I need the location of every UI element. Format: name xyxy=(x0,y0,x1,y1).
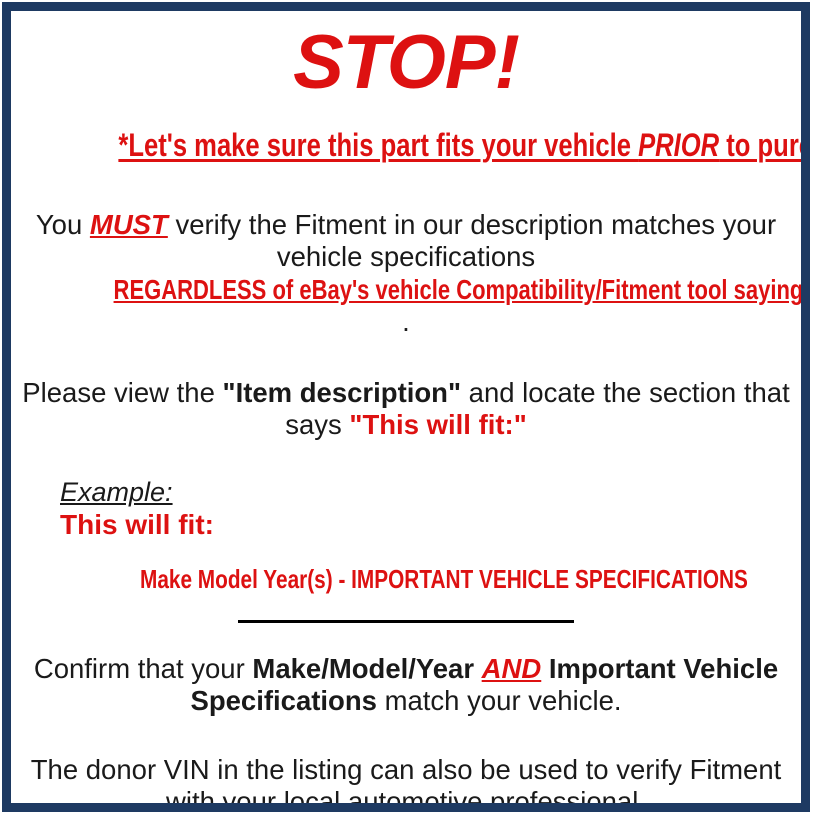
emphasis-regardless: REGARDLESS of eBay's vehicle Compatibili… xyxy=(114,274,810,306)
paragraph-confirm: Confirm that your Make/Model/Year AND Im… xyxy=(20,623,792,718)
emphasis-and: AND xyxy=(482,653,542,684)
paragraph-donor-vin: The donor VIN in the listing can also be… xyxy=(20,718,792,812)
example-spec-text: Make Model Year(s) - IMPORTANT VEHICLE S… xyxy=(140,565,748,594)
example-block: Example: This will fit: Make Model Year(… xyxy=(20,442,792,594)
paragraph-must-verify: You MUST verify the Fitment in our descr… xyxy=(20,179,792,339)
emphasis-item-description: "Item description" xyxy=(223,377,461,408)
example-this-will-fit: This will fit: xyxy=(60,506,792,541)
example-label: Example: xyxy=(60,478,792,506)
page-title: STOP! xyxy=(20,11,792,111)
subtitle-emphasis-prior: PRIOR xyxy=(638,127,719,163)
emphasis-this-will-fit: "This will fit:" xyxy=(349,409,526,440)
subtitle-banner: *Let's make sure this part fits your veh… xyxy=(20,111,792,179)
subtitle-suffix: to purchasing* xyxy=(719,127,810,163)
divider-row xyxy=(20,594,792,623)
emphasis-must: MUST xyxy=(90,209,168,240)
confirm-seg-2: match your vehicle. xyxy=(377,685,622,716)
example-spec-row: Make Model Year(s) - IMPORTANT VEHICLE S… xyxy=(60,541,792,594)
confirm-seg-1: Confirm that your xyxy=(34,653,253,684)
must-seg-2: verify the Fitment in our description ma… xyxy=(168,209,776,272)
confirm-space-2 xyxy=(541,653,549,684)
fitment-notice-card: STOP! *Let's make sure this part fits yo… xyxy=(0,0,813,814)
confirm-space-1 xyxy=(474,653,482,684)
card-content: STOP! *Let's make sure this part fits yo… xyxy=(11,11,801,803)
must-seg-1: You xyxy=(36,209,90,240)
emphasis-make-model-year: Make/Model/Year xyxy=(252,653,474,684)
paragraph-item-description: Please view the "Item description" and l… xyxy=(20,339,792,442)
horizontal-rule-icon xyxy=(238,620,574,623)
subtitle-text: *Let's make sure this part fits your veh… xyxy=(118,129,810,163)
card-border: STOP! *Let's make sure this part fits yo… xyxy=(2,2,810,812)
must-seg-3: . xyxy=(402,306,410,337)
subtitle-prefix: *Let's make sure this part fits your veh… xyxy=(118,127,638,163)
view-seg-1: Please view the xyxy=(22,377,222,408)
